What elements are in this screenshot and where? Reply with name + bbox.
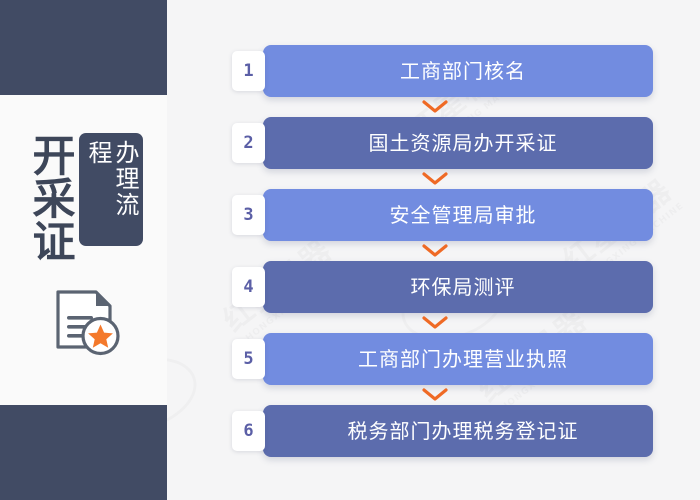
page-title: 开采证 办理流程	[28, 133, 143, 267]
chevron-down-icon	[422, 244, 448, 258]
chevron-down-icon	[422, 316, 448, 330]
step-number: 3	[243, 207, 253, 224]
title-badge: 办理流程	[79, 133, 143, 246]
step-bar[interactable]: 工商部门核名	[263, 45, 653, 97]
step-bar[interactable]: 安全管理局审批	[263, 189, 653, 241]
step-label: 国土资源局办开采证	[359, 133, 558, 153]
step-number: 5	[243, 351, 253, 368]
infographic-canvas: 红星机器 HONGXING MACHINE 红星机器 HONGXING MACH…	[0, 0, 700, 500]
document-with-star-icon	[52, 287, 124, 364]
step-label: 安全管理局审批	[380, 205, 537, 225]
step-number-badge: 4	[232, 267, 265, 307]
chevron-down-icon	[422, 172, 448, 186]
process-flow: 1 工商部门核名 2 国土资源局办开采证 3 安全管理局审批	[167, 0, 700, 500]
step-number-badge: 2	[232, 123, 265, 163]
flow-step[interactable]: 4 环保局测评	[232, 261, 653, 313]
flow-step[interactable]: 5 工商部门办理营业执照	[232, 333, 653, 385]
title-badge-text: 办理流程	[84, 140, 138, 239]
chevron-down-icon	[422, 388, 448, 402]
step-number: 1	[243, 63, 253, 80]
step-number-badge: 5	[232, 339, 265, 379]
left-title-panel: 开采证 办理流程	[0, 0, 167, 500]
step-number: 6	[243, 423, 253, 440]
navy-block-top	[0, 0, 167, 95]
step-number: 2	[243, 135, 253, 152]
step-bar[interactable]: 国土资源局办开采证	[263, 117, 653, 169]
navy-block-bottom	[0, 405, 167, 500]
chevron-down-icon	[422, 100, 448, 114]
title-main-text: 开采证	[28, 133, 72, 267]
flow-step[interactable]: 1 工商部门核名	[232, 45, 653, 97]
step-number-badge: 1	[232, 51, 265, 91]
flow-step[interactable]: 3 安全管理局审批	[232, 189, 653, 241]
step-bar[interactable]: 工商部门办理营业执照	[263, 333, 653, 385]
flow-step[interactable]: 2 国土资源局办开采证	[232, 117, 653, 169]
step-number-badge: 3	[232, 195, 265, 235]
step-number-badge: 6	[232, 411, 265, 451]
step-number: 4	[243, 279, 253, 296]
step-label: 税务部门办理税务登记证	[338, 421, 579, 441]
step-label: 工商部门办理营业执照	[348, 349, 568, 369]
step-label: 工商部门核名	[390, 61, 526, 81]
step-bar[interactable]: 税务部门办理税务登记证	[263, 405, 653, 457]
step-label: 环保局测评	[401, 277, 516, 297]
step-bar[interactable]: 环保局测评	[263, 261, 653, 313]
flow-step[interactable]: 6 税务部门办理税务登记证	[232, 405, 653, 457]
